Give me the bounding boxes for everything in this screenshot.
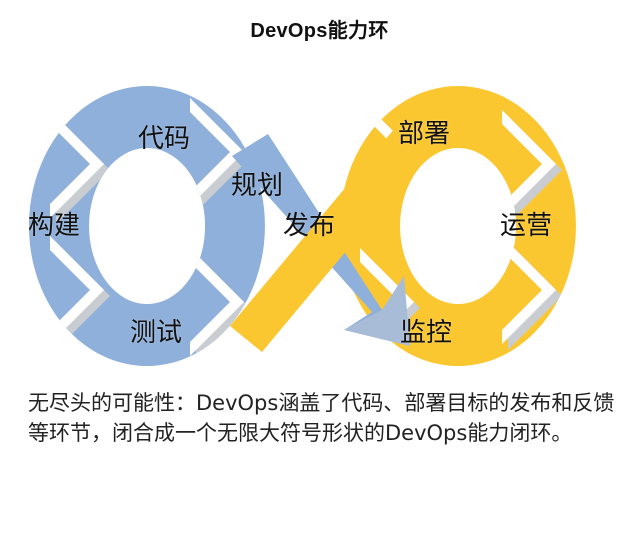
stage-label-plan: 规划 [231,165,283,202]
page-title: DevOps能力环 [0,14,639,43]
stage-label-monitor: 监控 [400,312,452,349]
stage-label-build: 构建 [28,205,80,242]
stage-label-release: 发布 [283,205,335,242]
stage-label-operate: 运营 [500,205,552,242]
stage-label-test: 测试 [130,312,182,349]
stage-label-deploy: 部署 [398,113,450,150]
stage-label-code: 代码 [138,118,190,155]
caption-text: 无尽头的可能性：DevOps涵盖了代码、部署目标的发布和反馈等环节，闭合成一个无… [28,388,618,448]
